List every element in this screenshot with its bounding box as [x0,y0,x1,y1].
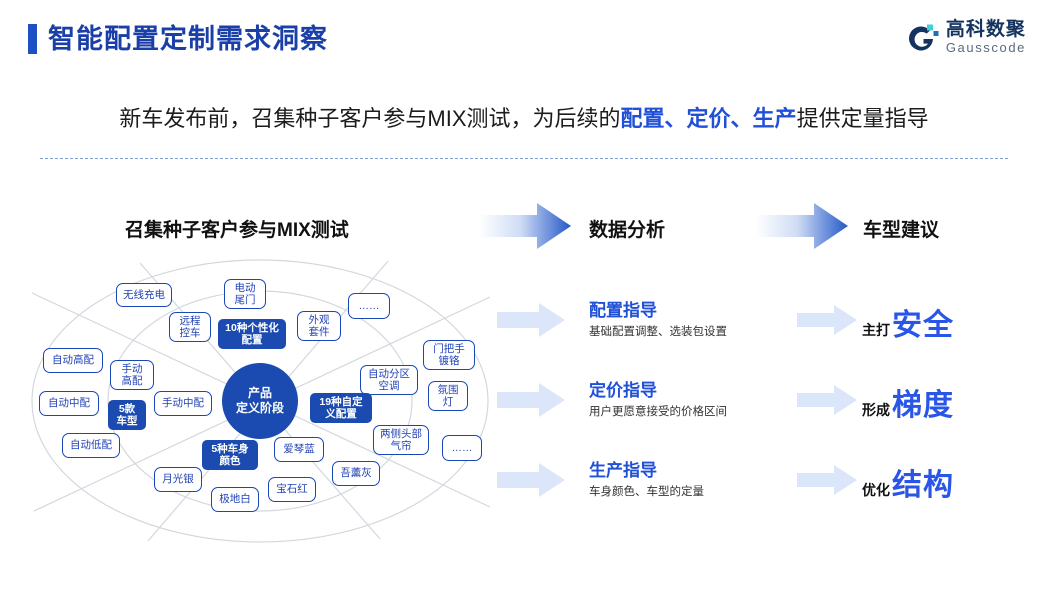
logo-name-en: Gausscode [946,40,1026,55]
mindmap-node-label: 氛围灯 [438,384,459,409]
mindmap-node-label: 外观套件 [309,314,330,339]
mindmap-node-label: 19种自定义配置 [319,396,362,421]
mindmap-node[interactable]: 宝石红 [268,477,316,502]
analysis-item-pricing[interactable]: 定价指导 用户更愿意接受的价格区间 [589,380,727,420]
mindmap-node-label: 极地白 [219,493,251,506]
mindmap-node-label: 电动尾门 [235,282,256,307]
logo-name-cn: 高科数聚 [946,20,1026,40]
result-prefix: 形成 [862,400,890,420]
mindmap-node[interactable]: …… [348,293,390,319]
result-prefix: 主打 [862,320,890,340]
result-keyword: 结构 [892,460,954,504]
mindmap-node-label: 10种个性化配置 [225,322,279,347]
subtitle-highlight: 配置、定价、生产 [621,106,797,131]
mindmap-node[interactable]: 远程控车 [169,312,211,342]
mindmap-node-label: 自动低配 [70,439,112,452]
mindmap-node[interactable]: 门把手镀铬 [423,340,475,370]
mindmap-node-label: …… [452,442,473,455]
mindmap-diagram: 无线充电电动尾门……远程控车10种个性化配置外观套件门把手镀铬自动高配手动高配自… [20,255,520,545]
mindmap-node[interactable]: 极地白 [211,487,259,512]
mindmap-node[interactable]: 电动尾门 [224,279,266,309]
column-header-collect: 召集种子客户参与MIX测试 [125,215,349,242]
mindmap-node-label: 5种车身颜色 [211,443,248,468]
result-keyword: 梯度 [892,380,954,424]
mindmap-node-label: 无线充电 [123,289,165,302]
mindmap-node-label: 手动中配 [162,397,204,410]
analysis-title: 定价指导 [589,380,727,402]
result-prefix: 优化 [862,480,890,500]
mindmap-node-label: 门把手镀铬 [433,343,465,368]
logo-text-block: 高科数聚 Gausscode [946,20,1026,55]
small-arrow-right-3 [797,465,857,495]
analysis-item-config[interactable]: 配置指导 基础配置调整、选装包设置 [589,300,727,340]
mindmap-node[interactable]: …… [442,435,482,461]
mindmap-core-node[interactable]: 产品 定义阶段 [222,363,298,439]
mindmap-node[interactable]: 自动低配 [62,433,120,458]
mindmap-node-label: 自动分区空调 [368,368,410,393]
column-header-advice: 车型建议 [863,215,939,242]
title-accent-bar [28,24,37,54]
slide-root: 智能配置定制需求洞察 高科数聚 Gausscode 新车发布前，召集种子客户参与… [0,0,1048,589]
small-arrow-left-3 [497,463,565,497]
mindmap-node-label: 月光银 [162,473,194,486]
analysis-title: 配置指导 [589,300,727,322]
flow-arrow-1 [479,203,571,249]
small-arrow-right-1 [797,305,857,335]
mindmap-node[interactable]: 自动中配 [39,391,99,416]
mindmap-node[interactable]: 无线充电 [116,283,172,307]
mindmap-node-label: 自动高配 [52,354,94,367]
analysis-item-production[interactable]: 生产指导 车身颜色、车型的定量 [589,460,704,500]
mindmap-node-label: 手动高配 [122,363,143,388]
result-item-structure: 优化 结构 [862,460,954,504]
brand-logo: 高科数聚 Gausscode [905,20,1026,55]
subtitle-part1: 新车发布前，召集种子客户参与MIX测试，为后续的 [119,106,620,131]
mindmap-node-label: 爱琴蓝 [283,443,315,456]
mindmap-node-label: 两侧头部气帘 [380,428,422,453]
mindmap-node[interactable]: 5种车身颜色 [202,440,258,470]
mindmap-node-label: …… [359,300,380,313]
analysis-subtitle: 基础配置调整、选装包设置 [589,324,727,340]
slide-header: 智能配置定制需求洞察 高科数聚 Gausscode [0,0,1048,80]
mindmap-node-label: 5款车型 [117,403,138,428]
mindmap-node[interactable]: 吾薰灰 [332,461,380,486]
mindmap-node[interactable]: 氛围灯 [428,381,468,411]
mindmap-node[interactable]: 外观套件 [297,311,341,341]
subtitle-part2: 提供定量指导 [797,106,929,131]
mindmap-node-label: 自动中配 [48,397,90,410]
mindmap-node[interactable]: 手动中配 [154,391,212,416]
mindmap-node-label: 宝石红 [276,483,308,496]
analysis-subtitle: 车身颜色、车型的定量 [589,484,704,500]
page-title: 智能配置定制需求洞察 [48,22,328,56]
result-item-safety: 主打 安全 [862,300,954,344]
mindmap-node[interactable]: 手动高配 [110,360,154,390]
small-arrow-right-2 [797,385,857,415]
mindmap-node[interactable]: 自动分区空调 [360,365,418,395]
mindmap-node-label: 吾薰灰 [340,467,372,480]
mindmap-node[interactable]: 自动高配 [43,348,103,373]
small-arrow-left-2 [497,383,565,417]
mindmap-node[interactable]: 19种自定义配置 [310,393,372,423]
small-arrow-left-1 [497,303,565,337]
result-keyword: 安全 [892,300,954,344]
slide-subtitle: 新车发布前，召集种子客户参与MIX测试，为后续的配置、定价、生产提供定量指导 [0,103,1048,135]
flow-arrow-2 [756,203,848,249]
analysis-title: 生产指导 [589,460,704,482]
core-label-line2: 定义阶段 [236,401,284,416]
mindmap-node[interactable]: 爱琴蓝 [274,437,324,462]
dashed-divider [40,158,1008,159]
mindmap-node[interactable]: 5款车型 [108,400,146,430]
analysis-subtitle: 用户更愿意接受的价格区间 [589,404,727,420]
result-item-tier: 形成 梯度 [862,380,954,424]
gausscode-g-mark-icon [905,21,939,55]
core-label-line1: 产品 [236,386,284,401]
mindmap-node[interactable]: 月光银 [154,467,202,492]
mindmap-node[interactable]: 两侧头部气帘 [373,425,429,455]
mindmap-node-label: 远程控车 [180,315,201,340]
column-header-analysis: 数据分析 [589,215,665,242]
mindmap-node[interactable]: 10种个性化配置 [218,319,286,349]
